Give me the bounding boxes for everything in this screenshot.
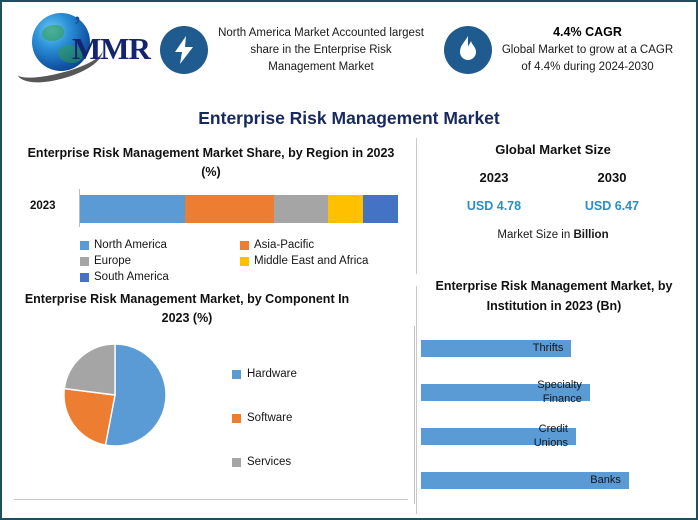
region-stacked-bar (80, 195, 398, 223)
market-size-value-2023: USD 4.78 (435, 199, 553, 213)
institution-row-banks: Banks (414, 458, 629, 502)
page-title: Enterprise Risk Management Market (2, 108, 696, 129)
region-segment-north-america (80, 195, 185, 223)
market-size-value-2030: USD 6.47 (553, 199, 671, 213)
global-market-size-panel: Global Market Size 2023 USD 4.78 2030 US… (422, 142, 684, 241)
mmr-logo: ’ MMR (10, 5, 160, 95)
institution-category-label: Banks (555, 473, 621, 487)
market-size-col-2030: 2030 USD 6.47 (553, 170, 671, 213)
pie-legend-item-hardware: Hardware (232, 352, 392, 396)
region-segment-europe (274, 195, 328, 223)
institution-row-credit-unions: Credit Unions (414, 414, 576, 458)
legend-item-middle-east-and-africa: Middle East and Africa (240, 253, 400, 269)
region-segment-south-america (363, 195, 398, 223)
region-chart-title: Enterprise Risk Management Market Share,… (26, 144, 396, 182)
divider-vertical-top (416, 138, 417, 274)
flame-icon (444, 26, 492, 74)
legend-item-north-america: North America (80, 237, 240, 253)
header-stat-2-text: 4.4% CAGR Global Market to grow at a CAG… (500, 24, 675, 76)
pie-legend-item-services: Services (232, 440, 392, 484)
component-share-chart: Enterprise Risk Management Market, by Co… (14, 290, 410, 500)
legend-swatch-icon (240, 257, 249, 266)
region-segment-middle-east-and-africa (328, 195, 363, 223)
region-chart-plot: 2023 (16, 191, 416, 227)
institution-category-label: Credit Unions (502, 422, 568, 450)
market-size-year-2023: 2023 (435, 170, 553, 185)
legend-item-south-america: South America (80, 269, 240, 285)
cagr-description: Global Market to grow at a CAGR of 4.4% … (502, 44, 673, 73)
market-size-unit-value: Billion (573, 229, 608, 241)
pie-legend-swatch-icon (232, 370, 241, 379)
pie-legend-swatch-icon (232, 458, 241, 467)
component-chart-legend: HardwareSoftwareServices (232, 352, 392, 484)
legend-label: Asia-Pacific (254, 239, 314, 251)
market-size-unit-note: Market Size in Billion (422, 229, 684, 241)
legend-label: North America (94, 239, 167, 251)
pie-legend-item-software: Software (232, 396, 392, 440)
institution-chart-plot: ThriftsSpecialty FinanceCredit UnionsBan… (420, 326, 692, 504)
pie-legend-label: Services (247, 456, 291, 468)
legend-label: Europe (94, 255, 131, 267)
legend-swatch-icon (240, 241, 249, 250)
legend-swatch-icon (80, 257, 89, 266)
component-pie-plot (62, 342, 168, 448)
legend-label: Middle East and Africa (254, 255, 368, 267)
header-stat-2: 4.4% CAGR Global Market to grow at a CAG… (444, 24, 675, 76)
market-size-unit-prefix: Market Size in (497, 229, 573, 241)
header-bar: ’ MMR North America Market Accounted lar… (2, 2, 696, 98)
legend-item-europe: Europe (80, 253, 240, 269)
header-stat-1: North America Market Accounted largest s… (160, 25, 426, 76)
region-category-label: 2023 (30, 200, 56, 212)
region-segment-asia-pacific (185, 195, 274, 223)
pie-slice-software (64, 389, 115, 445)
pie-slice-services (64, 344, 115, 395)
logo-wordmark: MMR (72, 31, 150, 67)
header-stat-1-text: North America Market Accounted largest s… (216, 25, 426, 76)
institution-row-thrifts: Thrifts (414, 326, 571, 370)
legend-swatch-icon (80, 241, 89, 250)
global-market-size-title: Global Market Size (422, 142, 684, 157)
cagr-headline: 4.4% CAGR (500, 24, 675, 41)
pie-legend-label: Software (247, 412, 292, 424)
pie-svg (62, 342, 168, 448)
pie-legend-label: Hardware (247, 368, 297, 380)
market-size-year-2030: 2030 (553, 170, 671, 185)
legend-item-asia-pacific: Asia-Pacific (240, 237, 400, 253)
institution-chart-title: Enterprise Risk Management Market, by In… (420, 276, 688, 316)
global-market-size-values: 2023 USD 4.78 2030 USD 6.47 (422, 170, 684, 213)
region-share-chart: Enterprise Risk Management Market Share,… (16, 144, 416, 284)
component-chart-title: Enterprise Risk Management Market, by Co… (22, 290, 352, 328)
region-chart-legend: North AmericaAsia-PacificEuropeMiddle Ea… (80, 237, 410, 285)
lightning-bolt-icon (160, 26, 208, 74)
institution-bar-chart: Enterprise Risk Management Market, by In… (420, 276, 692, 511)
institution-row-specialty-finance: Specialty Finance (414, 370, 590, 414)
institution-category-label: Specialty Finance (516, 378, 582, 406)
market-size-col-2023: 2023 USD 4.78 (435, 170, 553, 213)
infographic-root: ’ MMR North America Market Accounted lar… (0, 0, 698, 520)
institution-category-label: Thrifts (497, 341, 563, 355)
pie-legend-swatch-icon (232, 414, 241, 423)
legend-label: South America (94, 271, 169, 283)
legend-swatch-icon (80, 273, 89, 282)
